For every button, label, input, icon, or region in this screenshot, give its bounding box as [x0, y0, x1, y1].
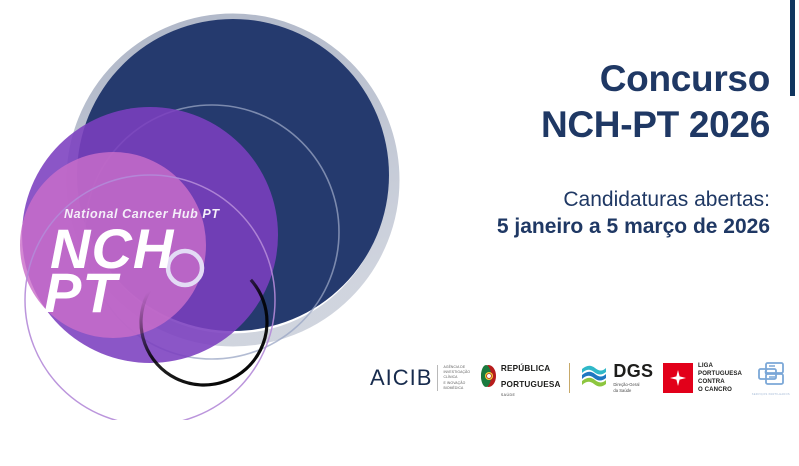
logo-aicib: AICIB Agência de Investigação Clínica e … — [370, 352, 470, 404]
spms-descriptor: SERVIÇOS PARTILHADOS — [752, 393, 790, 396]
subheadline-block: Candidaturas abertas: 5 janeiro a 5 març… — [430, 187, 770, 241]
rp-text-group: REPÚBLICA PORTUGUESA SAÚDE — [501, 359, 561, 398]
poster-canvas: National Cancer Hub PT NCH PT Concurso N… — [0, 0, 799, 466]
applications-dates: 5 janeiro a 5 março de 2026 — [430, 214, 770, 241]
portugal-shield-icon — [480, 364, 497, 393]
liga-text: LIGA PORTUGUESA CONTRA O CANCRO — [698, 362, 742, 394]
dgs-wordmark: DGS — [613, 362, 653, 380]
aicib-descriptor: Agência de Investigação Clínica e Inovaç… — [443, 365, 470, 391]
dgs-descriptor: Direção-Geral da Saúde — [613, 382, 653, 394]
logo-republica-portuguesa: REPÚBLICA PORTUGUESA SAÚDE — [480, 352, 570, 404]
rp-divider — [569, 363, 570, 393]
spms-cards-icon — [755, 361, 787, 392]
brand-acronym-pt: PT — [44, 261, 121, 324]
page-title: Concurso NCH-PT 2026 — [430, 56, 770, 147]
applications-open-label: Candidaturas abertas: — [430, 187, 770, 214]
aicib-divider — [437, 365, 438, 391]
rp-title: REPÚBLICA PORTUGUESA — [501, 364, 561, 389]
logo-spms: SERVIÇOS PARTILHADOS — [752, 352, 790, 404]
text-column: Concurso NCH-PT 2026 Candidaturas aberta… — [430, 56, 770, 241]
liga-cross-icon — [663, 363, 693, 393]
aicib-wordmark: AICIB — [370, 367, 432, 389]
top-right-accent-bar — [790, 0, 795, 96]
partner-logo-strip: AICIB Agência de Investigação Clínica e … — [370, 352, 790, 404]
logo-liga-portuguesa: LIGA PORTUGUESA CONTRA O CANCRO — [663, 352, 742, 404]
logo-dgs: DGS Direção-Geral da Saúde — [579, 352, 653, 404]
dgs-text-group: DGS Direção-Geral da Saúde — [613, 362, 653, 394]
rp-ministry: SAÚDE — [501, 394, 561, 398]
dgs-waves-icon — [579, 361, 609, 396]
brand-graphic: National Cancer Hub PT NCH PT — [0, 0, 430, 420]
